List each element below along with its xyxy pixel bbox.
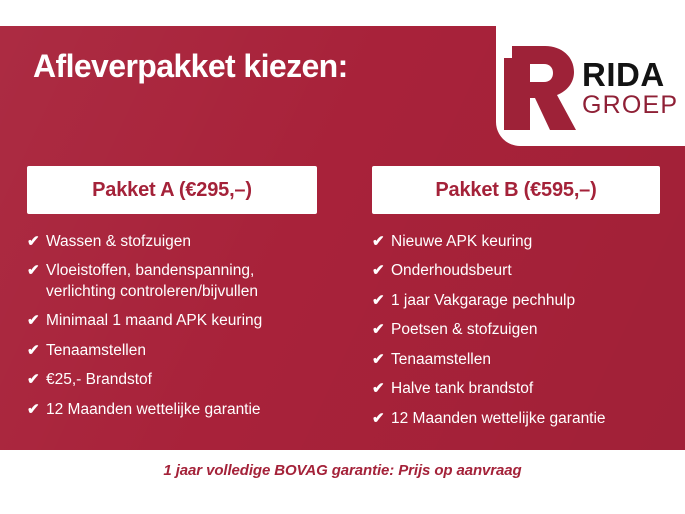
check-icon: ✔ (27, 261, 46, 281)
check-icon: ✔ (372, 409, 391, 429)
feature-label: Halve tank brandstof (391, 379, 660, 399)
afleverpakket-poster: Afleverpakket kiezen: RIDA GROEP Pakket … (0, 0, 685, 514)
list-item: ✔ €25,- Brandstof (27, 370, 317, 390)
feature-label: 1 jaar Vakgarage pechhulp (391, 291, 660, 311)
check-icon: ✔ (372, 379, 391, 399)
package-title-pakket-a: Pakket A (€295,–) (92, 179, 252, 202)
list-item: ✔ Minimaal 1 maand APK keuring (27, 311, 317, 331)
feature-label: Vloeistoffen, bandenspanning, verlichtin… (46, 261, 317, 302)
list-item: ✔ Vloeistoffen, bandenspanning, verlicht… (27, 261, 317, 302)
package-header-pakket-b: Pakket B (€595,–) (372, 166, 660, 214)
feature-label: Poetsen & stofzuigen (391, 320, 660, 340)
check-icon: ✔ (372, 320, 391, 340)
check-icon: ✔ (372, 350, 391, 370)
list-item: ✔ Tenaamstellen (27, 341, 317, 361)
list-item: ✔ Onderhoudsbeurt (372, 261, 660, 281)
check-icon: ✔ (372, 232, 391, 252)
check-icon: ✔ (372, 291, 391, 311)
check-icon: ✔ (27, 311, 46, 331)
list-item: ✔ 12 Maanden wettelijke garantie (27, 400, 317, 420)
feature-list-pakket-b: ✔ Nieuwe APK keuring ✔ Onderhoudsbeurt ✔… (372, 232, 660, 429)
check-icon: ✔ (27, 400, 46, 420)
feature-label: €25,- Brandstof (46, 370, 317, 390)
check-icon: ✔ (27, 341, 46, 361)
package-columns: Pakket A (€295,–) ✔ Wassen & stofzuigen … (0, 0, 685, 514)
list-item: ✔ Tenaamstellen (372, 350, 660, 370)
feature-label: Tenaamstellen (46, 341, 317, 361)
list-item: ✔ Wassen & stofzuigen (27, 232, 317, 252)
list-item: ✔ Halve tank brandstof (372, 379, 660, 399)
package-header-pakket-a: Pakket A (€295,–) (27, 166, 317, 214)
list-item: ✔ Nieuwe APK keuring (372, 232, 660, 252)
list-item: ✔ Poetsen & stofzuigen (372, 320, 660, 340)
feature-label: 12 Maanden wettelijke garantie (46, 400, 317, 420)
check-icon: ✔ (27, 232, 46, 252)
package-card-pakket-a: Pakket A (€295,–) ✔ Wassen & stofzuigen … (27, 166, 317, 429)
feature-label: Onderhoudsbeurt (391, 261, 660, 281)
feature-label: Tenaamstellen (391, 350, 660, 370)
list-item: ✔ 12 Maanden wettelijke garantie (372, 409, 660, 429)
check-icon: ✔ (27, 370, 46, 390)
package-title-pakket-b: Pakket B (€595,–) (435, 179, 596, 202)
poster-footer: 1 jaar volledige BOVAG garantie: Prijs o… (0, 450, 685, 514)
feature-label: Minimaal 1 maand APK keuring (46, 311, 317, 331)
feature-label: Wassen & stofzuigen (46, 232, 317, 252)
footer-guarantee-text: 1 jaar volledige BOVAG garantie: Prijs o… (0, 462, 685, 479)
package-card-pakket-b: Pakket B (€595,–) ✔ Nieuwe APK keuring ✔… (372, 166, 660, 438)
feature-list-pakket-a: ✔ Wassen & stofzuigen ✔ Vloeistoffen, ba… (27, 232, 317, 420)
feature-label: 12 Maanden wettelijke garantie (391, 409, 660, 429)
list-item: ✔ 1 jaar Vakgarage pechhulp (372, 291, 660, 311)
check-icon: ✔ (372, 261, 391, 281)
feature-label: Nieuwe APK keuring (391, 232, 660, 252)
